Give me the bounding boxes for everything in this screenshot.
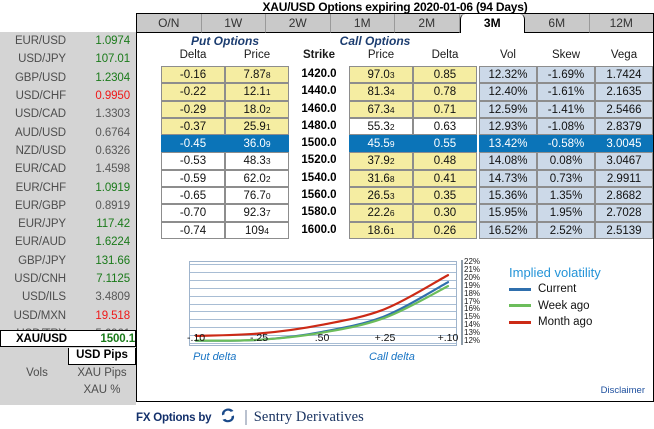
cell-put-price: 12.1 — [243, 86, 265, 98]
sidebar-item-nzd-usd[interactable]: NZD/USD0.6326 — [0, 142, 136, 160]
cell-vega: 2.7028 — [595, 204, 653, 221]
cell-skew: -1.61% — [537, 83, 595, 100]
cell-skew: 0.73% — [537, 170, 595, 187]
cell-call-delta: 0.63 — [413, 118, 477, 135]
rate-value: 1.2304 — [74, 72, 130, 84]
cell-put-price-wrap: 48.33 — [225, 152, 289, 169]
rate-pair-label: USD/CAD — [0, 108, 74, 120]
table-row[interactable]: -0.2918.021460.067.340.7112.59%-1.41%2.5… — [137, 101, 653, 118]
rate-pair-label: NZD/USD — [0, 145, 74, 157]
cell-call-price-subdigit: 2 — [390, 156, 395, 166]
sidebar-item-xau-usd[interactable]: XAU/USD 1500.1 — [0, 330, 136, 347]
cell-skew: -1.41% — [537, 101, 595, 118]
legend-label: Month ago — [538, 316, 592, 328]
cell-vega: 3.0467 — [595, 152, 653, 169]
sidebar-item-eur-usd[interactable]: EUR/USD1.0974 — [0, 32, 136, 50]
cell-call-price-wrap: 37.92 — [349, 152, 413, 169]
selected-pair-name: XAU/USD — [1, 333, 75, 345]
cell-put-price-wrap: 62.02 — [225, 170, 289, 187]
cell-put-price: 7.87 — [243, 69, 265, 81]
legend-item-current: Current — [509, 282, 639, 298]
cell-skew: 1.95% — [537, 204, 595, 221]
cell-vol: 15.36% — [479, 187, 537, 204]
options-panel: O/N1W2W1M2M3M6M12M Put Options Call Opti… — [136, 13, 654, 402]
rate-pair-label: EUR/GBP — [0, 200, 74, 212]
tenor-tab-2w[interactable]: 2W — [266, 14, 331, 33]
cell-call-price-wrap: 67.34 — [349, 101, 413, 118]
table-row[interactable]: -0.6576.701560.026.530.3515.36%1.35%2.86… — [137, 187, 653, 204]
sidebar-item-usd-jpy[interactable]: USD/JPY107.01 — [0, 50, 136, 68]
rate-pair-label: USD/CHF — [0, 90, 74, 102]
legend-swatch-icon — [509, 321, 531, 324]
cell-call-price: 55.3 — [367, 121, 389, 133]
sidebar-item-usd-ils[interactable]: USD/ILS3.4809 — [0, 288, 136, 306]
cell-call-price-subdigit: 4 — [390, 87, 395, 97]
cell-vol: 14.73% — [479, 170, 537, 187]
chart-x-tick: +.25 — [367, 332, 403, 344]
put-options-group-label: Put Options — [161, 34, 289, 48]
column-header-put-delta: Delta — [161, 49, 225, 61]
vol-unit-tab-xau[interactable]: XAU % — [68, 382, 136, 399]
cell-vega: 2.5139 — [595, 222, 653, 239]
cell-call-price: 81.3 — [367, 86, 389, 98]
cell-put-price-subdigit: 8 — [266, 70, 271, 80]
cell-put-delta: -0.45 — [161, 135, 225, 152]
footer-divider — [245, 410, 246, 425]
cell-vol: 14.08% — [479, 152, 537, 169]
rate-value: 117.42 — [74, 218, 130, 230]
cell-call-price-wrap: 18.61 — [349, 222, 413, 239]
rate-value: 1.4598 — [74, 163, 130, 175]
table-row[interactable]: -0.5962.021540.031.680.4114.73%0.73%2.99… — [137, 170, 653, 187]
cell-call-price: 31.6 — [367, 173, 389, 185]
brand-name: Sentry Derivatives — [254, 409, 364, 426]
cell-put-price: 36.0 — [243, 138, 265, 150]
cell-put-price-subdigit: 4 — [264, 226, 269, 236]
cell-vega: 1.7424 — [595, 66, 653, 83]
cell-put-delta: -0.37 — [161, 118, 225, 135]
cell-call-delta: 0.71 — [413, 101, 477, 118]
cell-put-price-wrap: 92.37 — [225, 204, 289, 221]
cell-put-delta: -0.22 — [161, 83, 225, 100]
cell-call-delta: 0.35 — [413, 187, 477, 204]
cell-put-price-subdigit: 1 — [266, 122, 271, 132]
cell-put-price-wrap: 25.91 — [225, 118, 289, 135]
cell-strike: 1460.0 — [291, 101, 347, 118]
table-row[interactable]: -0.4536.091500.045.590.5513.42%-0.58%3.0… — [137, 135, 653, 152]
rate-value: 1.0919 — [74, 182, 130, 194]
table-row[interactable]: -0.167.8781420.097.030.8512.32%-1.69%1.7… — [137, 66, 653, 83]
cell-vol: 15.95% — [479, 204, 537, 221]
sidebar-item-usd-cnh[interactable]: USD/CNH7.1125 — [0, 270, 136, 288]
legend-label: Current — [538, 283, 576, 295]
cell-vega: 2.8682 — [595, 187, 653, 204]
app-root: XAU/USD Options expiring 2020-01-06 (94 … — [0, 0, 654, 429]
tenor-tab-12m[interactable]: 12M — [590, 14, 654, 33]
cell-skew: -0.58% — [537, 135, 595, 152]
legend-item-week-ago: Week ago — [509, 298, 639, 314]
cell-put-price-wrap: 18.02 — [225, 101, 289, 118]
sidebar-item-gbp-usd[interactable]: GBP/USD1.2304 — [0, 69, 136, 87]
cell-call-delta: 0.78 — [413, 83, 477, 100]
legend-title: Implied volatility — [509, 266, 639, 281]
cell-put-price: 18.0 — [243, 104, 265, 116]
rate-value: 1.3303 — [74, 108, 130, 120]
cell-put-price-subdigit: 1 — [266, 87, 271, 97]
options-table: -0.167.8781420.097.030.8512.32%-1.69%1.7… — [137, 66, 653, 239]
column-header-vol: Vol — [479, 49, 537, 61]
cell-put-delta: -0.16 — [161, 66, 225, 83]
cell-call-price-wrap: 31.68 — [349, 170, 413, 187]
cell-put-delta: -0.65 — [161, 187, 225, 204]
cell-call-price-subdigit: 9 — [390, 139, 395, 149]
tenor-tab-3m[interactable]: 3M — [460, 14, 526, 33]
cell-put-price: 109 — [245, 225, 264, 237]
sidebar-item-eur-cad[interactable]: EUR/CAD1.4598 — [0, 160, 136, 178]
cell-strike: 1480.0 — [291, 118, 347, 135]
column-header-strike: Strike — [291, 49, 347, 61]
selected-pair-value: 1500.1 — [75, 333, 135, 345]
table-row[interactable]: -0.2212.111440.081.340.7812.40%-1.61%2.1… — [137, 83, 653, 100]
chart-y-axis: 22%21%20%19%18%17%16%15%14%13%12% — [461, 260, 491, 347]
cell-put-price-wrap: 36.09 — [225, 135, 289, 152]
cell-call-price-subdigit: 3 — [390, 70, 395, 80]
cell-strike: 1520.0 — [291, 152, 347, 169]
cell-call-price-subdigit: 8 — [390, 174, 395, 184]
cell-vol: 16.52% — [479, 222, 537, 239]
sidebar-item-usd-cad[interactable]: USD/CAD1.3303 — [0, 105, 136, 123]
rate-value: 3.4809 — [74, 291, 130, 303]
cell-call-delta: 0.55 — [413, 135, 477, 152]
cell-vol: 12.59% — [479, 101, 537, 118]
chart-legend: Implied volatility CurrentWeek agoMonth … — [509, 266, 639, 330]
cell-put-price-subdigit: 2 — [266, 105, 271, 115]
cell-call-price: 45.5 — [367, 138, 389, 150]
cell-put-price-subdigit: 2 — [266, 174, 271, 184]
sidebar-item-eur-chf[interactable]: EUR/CHF1.0919 — [0, 178, 136, 196]
cell-call-price: 26.5 — [367, 190, 389, 202]
tenor-tab-bar: O/N1W2W1M2M3M6M12M — [137, 14, 653, 33]
rate-pair-label: EUR/USD — [0, 35, 74, 47]
cell-put-price: 62.0 — [243, 173, 265, 185]
page-title: XAU/USD Options expiring 2020-01-06 (94 … — [136, 0, 654, 14]
cell-put-delta: -0.29 — [161, 101, 225, 118]
legend-label: Week ago — [538, 300, 590, 312]
chart-plot-area: -.10-.25.50+.25+.10 — [189, 261, 457, 346]
sidebar-item-gbp-jpy[interactable]: GBP/JPY131.66 — [0, 252, 136, 270]
cell-put-price-subdigit: 3 — [266, 156, 271, 166]
cell-call-price-wrap: 26.53 — [349, 187, 413, 204]
rate-pair-label: EUR/AUD — [0, 236, 74, 248]
cell-put-price: 25.9 — [243, 121, 265, 133]
call-delta-axis-label: Call delta — [369, 351, 415, 363]
column-header-call-price: Price — [349, 49, 413, 61]
column-header-put-price: Price — [225, 49, 289, 61]
cell-put-price-wrap: 12.11 — [225, 83, 289, 100]
cell-call-delta: 0.30 — [413, 204, 477, 221]
cell-vol: 13.42% — [479, 135, 537, 152]
cell-skew: -1.08% — [537, 118, 595, 135]
cell-call-price-wrap: 22.26 — [349, 204, 413, 221]
sidebar-item-eur-jpy[interactable]: EUR/JPY117.42 — [0, 215, 136, 233]
cell-put-price-wrap: 1094 — [225, 222, 289, 239]
sentry-logo-icon — [217, 407, 239, 429]
cell-call-delta: 0.26 — [413, 222, 477, 239]
sidebar-item-aud-usd[interactable]: AUD/USD0.6764 — [0, 123, 136, 141]
fx-rates-sidebar: EUR/USD1.0974USD/JPY107.01GBP/USD1.2304U… — [0, 32, 136, 345]
legend-swatch-icon — [509, 288, 531, 291]
cell-call-price-wrap: 81.34 — [349, 83, 413, 100]
rate-value: 0.8919 — [74, 200, 130, 212]
cell-vega: 2.9911 — [595, 170, 653, 187]
rate-value: 0.6326 — [74, 145, 130, 157]
cell-call-price: 67.3 — [367, 104, 389, 116]
cell-put-price-wrap: 7.878 — [225, 66, 289, 83]
rate-value: 0.9950 — [74, 90, 130, 102]
cell-call-price-wrap: 55.32 — [349, 118, 413, 135]
cell-strike: 1440.0 — [291, 83, 347, 100]
rate-value: 1.6224 — [74, 236, 130, 248]
implied-volatility-chart: -.10-.25.50+.25+.10 22%21%20%19%18%17%16… — [189, 261, 509, 346]
cell-vol: 12.93% — [479, 118, 537, 135]
tenor-tab-on[interactable]: O/N — [137, 14, 202, 33]
rate-pair-label: USD/MXN — [0, 310, 74, 322]
rate-pair-label: GBP/USD — [0, 72, 74, 84]
column-header-vega: Vega — [595, 49, 653, 61]
sidebar-item-eur-gbp[interactable]: EUR/GBP0.8919 — [0, 197, 136, 215]
rate-value: 131.66 — [74, 255, 130, 267]
cell-skew: 1.35% — [537, 187, 595, 204]
vol-unit-tab-usd-pips[interactable]: USD Pips — [68, 348, 136, 365]
sidebar-item-eur-aud[interactable]: EUR/AUD1.6224 — [0, 233, 136, 251]
cell-put-price-subdigit: 7 — [266, 208, 271, 218]
disclaimer-link[interactable]: Disclaimer — [601, 385, 645, 396]
table-row[interactable]: -0.7410941600.018.610.2616.52%2.52%2.513… — [137, 222, 653, 239]
cell-put-price-wrap: 76.70 — [225, 187, 289, 204]
rate-pair-label: EUR/JPY — [0, 218, 74, 230]
rate-value: 7.1125 — [74, 273, 130, 285]
cell-put-delta: -0.70 — [161, 204, 225, 221]
cell-call-price-subdigit: 1 — [390, 226, 395, 236]
footer: FX Options by Sentry Derivatives — [136, 406, 364, 429]
call-options-group-label: Call Options — [305, 34, 445, 48]
cell-put-price: 92.3 — [243, 207, 265, 219]
put-delta-axis-label: Put delta — [193, 351, 236, 363]
column-header-row: DeltaPriceStrikePriceDeltaVolSkewVega — [137, 49, 653, 65]
rate-pair-label: EUR/CAD — [0, 163, 74, 175]
cell-strike: 1420.0 — [291, 66, 347, 83]
legend-swatch-icon — [509, 304, 531, 307]
cell-strike: 1580.0 — [291, 204, 347, 221]
vols-label: Vols — [8, 367, 66, 379]
cell-call-price: 18.6 — [367, 225, 389, 237]
sidebar-item-usd-chf[interactable]: USD/CHF0.9950 — [0, 87, 136, 105]
vol-unit-tab-xau-pips[interactable]: XAU Pips — [68, 365, 136, 382]
cell-skew: -1.69% — [537, 66, 595, 83]
tenor-tab-1w[interactable]: 1W — [202, 14, 267, 33]
legend-item-month-ago: Month ago — [509, 315, 639, 331]
cell-vol: 12.40% — [479, 83, 537, 100]
table-row[interactable]: -0.5348.331520.037.920.4814.08%0.08%3.04… — [137, 152, 653, 169]
cell-call-delta: 0.48 — [413, 152, 477, 169]
cell-call-delta: 0.85 — [413, 66, 477, 83]
cell-call-price-subdigit: 4 — [390, 105, 395, 115]
rate-value: 0.6764 — [74, 127, 130, 139]
vols-units-selector: Vols USD PipsXAU PipsXAU % — [0, 347, 136, 405]
y-axis-line — [461, 260, 463, 345]
rate-pair-label: USD/CNH — [0, 273, 74, 285]
cell-strike: 1560.0 — [291, 187, 347, 204]
rate-pair-label: USD/ILS — [0, 291, 74, 303]
cell-strike: 1540.0 — [291, 170, 347, 187]
column-header-skew: Skew — [537, 49, 595, 61]
cell-put-price-subdigit: 9 — [266, 139, 271, 149]
cell-put-price-subdigit: 0 — [266, 191, 271, 201]
cell-put-delta: -0.74 — [161, 222, 225, 239]
cell-put-delta: -0.53 — [161, 152, 225, 169]
chart-x-tick: -.25 — [241, 332, 277, 344]
cell-put-price: 48.3 — [243, 155, 265, 167]
rate-value: 19.518 — [74, 310, 130, 322]
sidebar-item-usd-mxn[interactable]: USD/MXN19.518 — [0, 306, 136, 324]
chart-x-tick: -.10 — [178, 332, 214, 344]
option-type-band: Put Options Call Options — [137, 34, 653, 49]
column-header-call-delta: Delta — [413, 49, 477, 61]
rate-value: 1.0974 — [74, 35, 130, 47]
cell-strike: 1600.0 — [291, 222, 347, 239]
rate-pair-label: GBP/JPY — [0, 255, 74, 267]
cell-call-price-wrap: 45.59 — [349, 135, 413, 152]
cell-call-price-subdigit: 3 — [390, 191, 395, 201]
cell-call-price-wrap: 97.03 — [349, 66, 413, 83]
cell-skew: 0.08% — [537, 152, 595, 169]
cell-call-price: 97.0 — [367, 69, 389, 81]
rate-value: 107.01 — [74, 53, 130, 65]
cell-call-delta: 0.41 — [413, 170, 477, 187]
cell-call-price: 22.2 — [367, 207, 389, 219]
cell-call-price-subdigit: 6 — [390, 208, 395, 218]
cell-strike: 1500.0 — [291, 135, 347, 152]
chart-x-tick: .50 — [304, 332, 340, 344]
cell-vega: 2.1635 — [595, 83, 653, 100]
tenor-tab-2m[interactable]: 2M — [395, 14, 460, 33]
cell-call-price-subdigit: 2 — [390, 122, 395, 132]
cell-vega: 2.8379 — [595, 118, 653, 135]
chart-y-tick: 12% — [464, 337, 480, 345]
cell-call-price: 37.9 — [367, 155, 389, 167]
table-row[interactable]: -0.7092.371580.022.260.3015.95%1.95%2.70… — [137, 204, 653, 221]
footer-prefix: FX Options by — [136, 412, 211, 424]
cell-skew: 2.52% — [537, 222, 595, 239]
cell-vega: 2.5466 — [595, 101, 653, 118]
table-row[interactable]: -0.3725.911480.055.320.6312.93%-1.08%2.8… — [137, 118, 653, 135]
rate-pair-label: AUD/USD — [0, 127, 74, 139]
cell-vega: 3.0045 — [595, 135, 653, 152]
rate-pair-label: EUR/CHF — [0, 182, 74, 194]
cell-put-price: 76.7 — [243, 190, 265, 202]
cell-vol: 12.32% — [479, 66, 537, 83]
tenor-tab-1m[interactable]: 1M — [331, 14, 396, 33]
cell-put-delta: -0.59 — [161, 170, 225, 187]
tenor-tab-6m[interactable]: 6M — [525, 14, 590, 33]
rate-pair-label: USD/JPY — [0, 53, 74, 65]
